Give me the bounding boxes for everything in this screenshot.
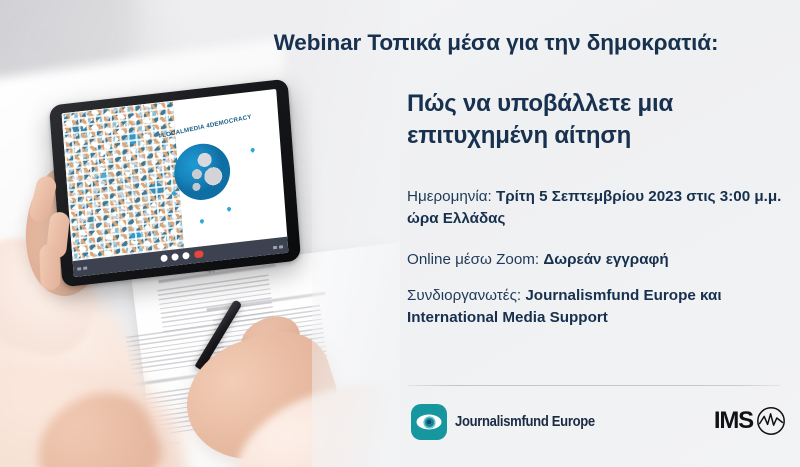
date-detail: Ημερομηνία: Τρίτη 5 Σεπτεμβρίου 2023 στι… (407, 186, 789, 229)
journalismfund-logo: Journalismfund Europe (411, 404, 610, 440)
participants-icon[interactable] (182, 252, 189, 260)
logo-row: Journalismfund Europe IMS (407, 398, 792, 450)
page-title: Webinar Τοπικά μέσα για την δημοκρατιά: (206, 31, 786, 56)
mic-icon[interactable] (83, 267, 87, 270)
chat-icon[interactable] (160, 255, 167, 263)
screen-share-icon[interactable] (77, 267, 81, 270)
toolbar-left-group (77, 267, 87, 271)
waveform-circle-icon (756, 406, 786, 436)
collage-highlight (62, 101, 185, 261)
online-detail: Online μέσω Zoom: Δωρεάν εγγραφή (407, 249, 789, 271)
map-pin-icon (226, 206, 232, 212)
eye-white (417, 415, 442, 430)
reaction-icon[interactable] (273, 245, 277, 248)
eye-icon (411, 404, 447, 440)
text-panel: Webinar Τοπικά μέσα για την δημοκρατιά: … (403, 0, 800, 467)
map-pin-icon (199, 219, 205, 225)
online-value: Δωρεάν εγγραφή (543, 251, 668, 268)
subtitle-line-2: επιτυχημένη αίτηση (407, 120, 787, 152)
webinar-poster: Application Form #LOCALMEDIA 4DEMOCRACY (0, 0, 800, 467)
journalismfund-wordmark: Journalismfund Europe (455, 414, 595, 430)
coorganisers-detail: Συνδιοργανωτές: Journalismfund Europe κα… (407, 285, 789, 328)
finger (39, 244, 61, 291)
tablet-screen: #LOCALMEDIA 4DEMOCRACY (62, 89, 289, 277)
page-subtitle: Πώς να υποβάλλετε μια επιτυχημένη αίτηση (407, 88, 787, 151)
end-call-icon[interactable] (194, 251, 203, 259)
online-label: Online μέσω Zoom: (407, 251, 543, 268)
toolbar-right-group (273, 245, 283, 249)
subtitle-line-1: Πώς να υποβάλλετε μια (407, 88, 787, 120)
ims-logo: IMS (714, 406, 786, 436)
info-icon[interactable] (171, 253, 178, 261)
tablet-device[interactable]: #LOCALMEDIA 4DEMOCRACY (49, 79, 301, 288)
date-label: Ημερομηνία: (407, 188, 496, 205)
photo-edge-fade (312, 0, 400, 467)
eye-pupil (425, 418, 434, 427)
more-options-icon[interactable] (279, 245, 283, 248)
map-pin-icon (250, 147, 256, 153)
divider (408, 385, 780, 386)
hero-photo: Application Form #LOCALMEDIA 4DEMOCRACY (0, 0, 400, 467)
ims-wordmark: IMS (714, 407, 753, 435)
coorganisers-label: Συνδιοργανωτές: (407, 287, 525, 304)
